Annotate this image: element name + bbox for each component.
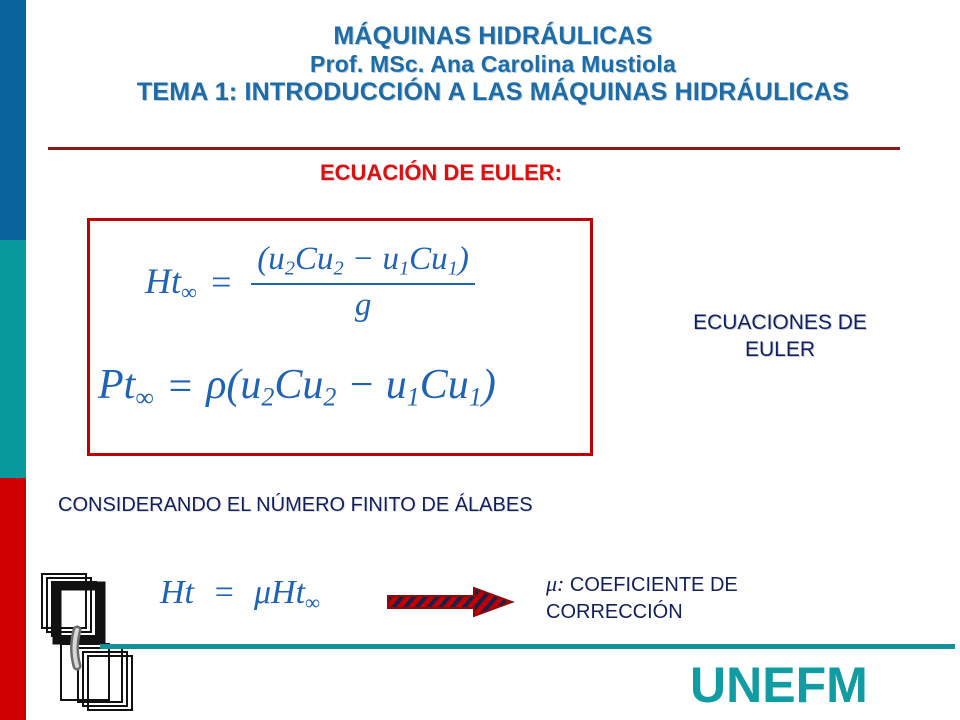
- rail-segment-red: [0, 478, 26, 720]
- footer-divider: [100, 644, 955, 649]
- equation-3-equals: =: [213, 574, 236, 611]
- mu-note-line1: μ: COEFICIENTE DE: [546, 570, 738, 599]
- equation-ht-infinity: Ht∞ = (u2Cu2 − u1Cu1) g: [145, 241, 475, 324]
- equation-1-lhs: Ht∞: [145, 260, 197, 306]
- euler-label-line2: EULER: [655, 337, 905, 364]
- course-title: MÁQUINAS HIDRÁULICAS: [26, 22, 960, 51]
- slide-canvas: MÁQUINAS HIDRÁULICAS Prof. MSc. Ana Caro…: [0, 0, 960, 720]
- header-divider: [48, 147, 900, 150]
- instructor-name: Prof. MSc. Ana Carolina Mustiola: [26, 51, 960, 78]
- equation-1-denominator: g: [355, 285, 372, 324]
- equation-2-rhs: ρ(u2Cu2 − u1Cu1): [206, 361, 496, 412]
- mu-definition-note: μ: COEFICIENTE DE CORRECCIÓN: [546, 570, 738, 625]
- mu-note-line2: CORRECCIÓN: [546, 599, 738, 625]
- unefm-logo: UNEFM: [690, 660, 868, 710]
- equation-2-equals: =: [166, 363, 194, 411]
- rail-segment-teal: [0, 240, 26, 478]
- equation-3-lhs: Ht: [160, 574, 194, 611]
- section-heading: ECUACIÓN DE EULER:: [26, 160, 856, 186]
- mu-symbol: μ:: [546, 571, 564, 596]
- euler-equations-box: Ht∞ = (u2Cu2 − u1Cu1) g Pt∞ = ρ(u2Cu2 − …: [87, 218, 593, 456]
- topic-title: TEMA 1: INTRODUCCIÓN A LAS MÁQUINAS HIDR…: [26, 78, 960, 107]
- euler-label-line1: ECUACIONES DE: [655, 310, 905, 337]
- right-arrow-icon: [386, 585, 516, 619]
- equation-3-rhs: μHt∞: [254, 574, 320, 611]
- equation-pt-infinity: Pt∞ = ρ(u2Cu2 − u1Cu1): [98, 361, 496, 413]
- equation-1-numerator: (u2Cu2 − u1Cu1): [251, 241, 475, 283]
- finite-blades-statement: CONSIDERANDO EL NÚMERO FINITO DE ÁLABES: [58, 494, 533, 517]
- equation-2-lhs: Pt∞: [98, 361, 154, 413]
- stacked-frames-icon: [36, 568, 140, 716]
- mu-note-text1: COEFICIENTE DE: [564, 574, 737, 596]
- rail-segment-blue: [0, 0, 26, 240]
- euler-equations-label: ECUACIONES DE EULER: [655, 310, 905, 364]
- title-block: MÁQUINAS HIDRÁULICAS Prof. MSc. Ana Caro…: [26, 22, 960, 107]
- equation-1-equals: =: [209, 261, 233, 303]
- equation-1-fraction: (u2Cu2 − u1Cu1) g: [251, 241, 475, 324]
- equation-ht-correction: Ht = μHt∞: [160, 574, 320, 615]
